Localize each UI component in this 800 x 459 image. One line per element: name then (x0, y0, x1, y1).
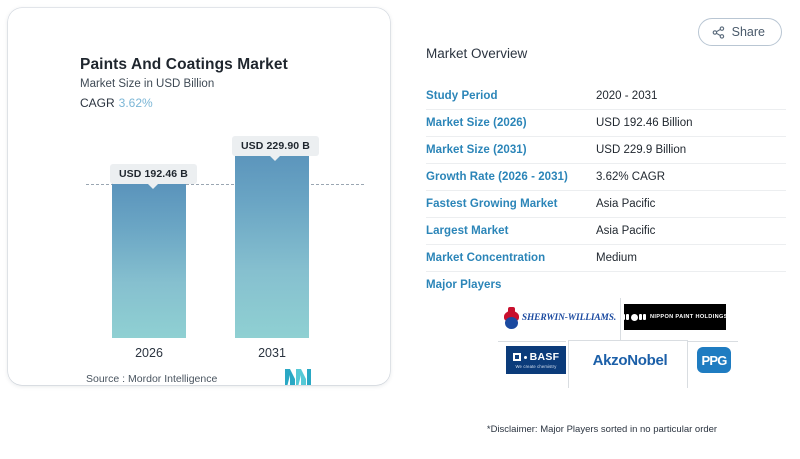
sherwin-williams-logo: SHERWIN-WILLIAMS. (504, 300, 616, 336)
row-key: Largest Market (426, 225, 596, 237)
row-key: Fastest Growing Market (426, 198, 596, 210)
table-row: Largest Market Asia Pacific (426, 218, 786, 245)
major-players-row: Major Players (426, 272, 786, 298)
bar-value-label-2026: USD 192.46 B (110, 164, 197, 184)
mordor-intelligence-logo (285, 369, 311, 385)
logo-divider (687, 340, 688, 388)
chart-cagr: CAGR3.62% (80, 96, 153, 110)
logo-divider (568, 340, 569, 388)
ppg-wordmark: PPG (701, 353, 726, 368)
table-row: Market Size (2031) USD 229.9 Billion (426, 137, 786, 164)
row-value: USD 192.46 Billion (596, 117, 693, 129)
row-value: Asia Pacific (596, 225, 655, 237)
major-players-label: Major Players (426, 279, 596, 291)
row-key: Market Concentration (426, 252, 596, 264)
akzonobel-logo: AkzoNobel (576, 344, 684, 376)
basf-wordmark: BASF (530, 351, 560, 363)
cagr-label: CAGR (80, 96, 115, 110)
basf-dot-icon (524, 356, 527, 359)
bar-chart-plot-area (8, 128, 390, 338)
logo-divider (568, 340, 688, 341)
logo-divider (498, 341, 566, 342)
row-key: Market Size (2026) (426, 117, 596, 129)
basf-logo: BASF We create chemistry (506, 346, 566, 374)
sherwin-williams-wordmark: SHERWIN-WILLIAMS. (522, 313, 616, 323)
table-row: Market Size (2026) USD 192.46 Billion (426, 110, 786, 137)
ppg-logo: PPG (692, 344, 736, 376)
share-button-label: Share (732, 25, 765, 39)
cagr-value: 3.62% (119, 96, 153, 110)
logo-divider (620, 298, 621, 340)
table-row: Fastest Growing Market Asia Pacific (426, 191, 786, 218)
table-row: Market Concentration Medium (426, 245, 786, 272)
x-axis-label-2031: 2031 (222, 346, 322, 360)
market-overview-title: Market Overview (426, 46, 527, 61)
paint-can-icon (504, 307, 519, 329)
row-key: Growth Rate (2026 - 2031) (426, 171, 596, 183)
row-value: Asia Pacific (596, 198, 655, 210)
chart-card: Paints And Coatings Market Market Size i… (8, 8, 390, 385)
share-icon (712, 26, 725, 39)
bar-2031[interactable] (235, 149, 309, 338)
row-key: Market Size (2031) (426, 144, 596, 156)
market-overview-table: Study Period 2020 - 2031 Market Size (20… (426, 83, 786, 298)
bar-2026[interactable] (112, 183, 186, 338)
table-row: Study Period 2020 - 2031 (426, 83, 786, 110)
bar-value-label-2031: USD 229.90 B (232, 136, 319, 156)
logo-divider (688, 341, 738, 342)
row-value: 3.62% CAGR (596, 171, 665, 183)
chart-subtitle: Market Size in USD Billion (80, 78, 214, 90)
row-value: USD 229.9 Billion (596, 144, 686, 156)
x-axis-label-2026: 2026 (99, 346, 199, 360)
market-summary-page: Paints And Coatings Market Market Size i… (0, 0, 800, 459)
chart-title: Paints And Coatings Market (80, 56, 288, 74)
akzonobel-wordmark: AkzoNobel (593, 352, 668, 369)
row-value: Medium (596, 252, 637, 264)
table-row: Growth Rate (2026 - 2031) 3.62% CAGR (426, 164, 786, 191)
nippon-mark-icon (622, 314, 646, 321)
nippon-wordmark: NIPPON PAINT HOLDINGS (650, 314, 728, 320)
chart-source: Source : Mordor Intelligence (86, 373, 217, 385)
disclaimer-text: *Disclaimer: Major Players sorted in no … (424, 424, 780, 435)
nippon-paint-holdings-logo: NIPPON PAINT HOLDINGS (624, 304, 726, 330)
major-players-logos: SHERWIN-WILLIAMS. NIPPON PAINT HOLDINGS … (498, 296, 738, 388)
share-button[interactable]: Share (698, 18, 782, 46)
row-value: 2020 - 2031 (596, 90, 657, 102)
row-key: Study Period (426, 90, 596, 102)
basf-tagline: We create chemistry (516, 364, 557, 369)
basf-square-icon (513, 353, 521, 361)
